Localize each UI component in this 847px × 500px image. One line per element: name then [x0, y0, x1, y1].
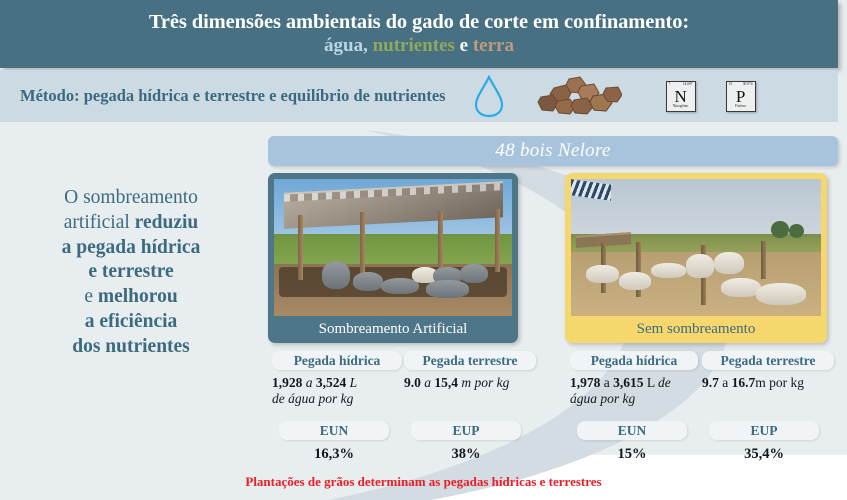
value-unit: m por kg	[755, 375, 804, 390]
element-number-n: 7	[669, 83, 671, 87]
value-shaded-eun: 16,3%	[279, 446, 389, 463]
caption-shaded: Sombreamento Artificial	[274, 316, 512, 343]
stat-unshaded-eun: EUN 15%	[577, 421, 687, 463]
footer-note: Plantações de grãos determinam as pegada…	[0, 474, 847, 490]
value-shaded-eup: 38%	[411, 446, 521, 463]
subject-banner: 48 bois Nelore	[268, 136, 838, 166]
value-unit: L	[644, 375, 659, 390]
treatment-card-shaded: Sombreamento Artificial	[268, 173, 518, 343]
photo-open-lot	[571, 179, 821, 316]
element-symbol-n: N	[674, 88, 686, 105]
caption-unshaded: Sem sombreamento	[571, 316, 821, 343]
stat-unshaded-land: Pegada terrestre 9.7 a 16.7m por kg	[702, 351, 834, 391]
header-comma: ,	[363, 35, 368, 56]
method-label: Método: pegada hídrica e terrestre e equ…	[20, 86, 446, 106]
value-unit: de água por kg	[272, 391, 353, 406]
element-tile-phosphorus: 15 30.974 P Fósforo	[726, 81, 756, 112]
value-unit: água por kg	[570, 391, 635, 406]
message-text-bold: melhorou	[98, 286, 178, 307]
soil-clumps-icon	[536, 74, 622, 118]
photo-shaded-pen	[274, 179, 512, 316]
label-shaded-eun: EUN	[279, 421, 389, 440]
label-unshaded-eun: EUN	[577, 421, 687, 440]
stat-unshaded-eup: EUP 35,4%	[709, 421, 819, 463]
message-line-2: artificial reduziu	[6, 211, 256, 236]
method-icon-group: 7 14.007 N Nitrogênio 15 30.974 P Fósfor…	[470, 74, 756, 118]
value-number: 9.0	[404, 375, 421, 390]
stat-shaded-eun: EUN 16,3%	[279, 421, 389, 463]
stat-shaded-eup: EUP 38%	[411, 421, 521, 463]
element-name-n: Nitrogênio	[667, 105, 695, 109]
value-sep: a	[302, 375, 316, 390]
subject-banner-label: 48 bois Nelore	[495, 140, 610, 162]
value-unit: m por kg	[458, 375, 509, 390]
label-unshaded-water: Pegada hídrica	[570, 351, 698, 370]
value-number: 15,4	[434, 375, 458, 390]
label-unshaded-land: Pegada terrestre	[702, 351, 834, 370]
label-shaded-land: Pegada terrestre	[404, 351, 536, 370]
element-mass-p: 30.974	[743, 83, 753, 87]
header-banner: Três dimensões ambientais do gado de cor…	[0, 0, 838, 68]
header-word-and: e	[460, 35, 468, 56]
stat-shaded-land: Pegada terrestre 9.0 a 15,4 m por kg	[404, 351, 536, 391]
header-word-nutrients: nutrientes	[373, 35, 455, 56]
label-shaded-water: Pegada hídrica	[272, 351, 402, 370]
message-text: e	[84, 286, 98, 307]
message-line-1: O sombreamento	[6, 186, 256, 211]
element-mass-n: 14.007	[683, 83, 693, 87]
value-unshaded-eup: 35,4%	[709, 446, 819, 463]
message-line-3: a pegada hídrica	[6, 236, 256, 261]
value-sep: a	[719, 375, 732, 390]
message-line-6: a eficiência	[6, 310, 256, 335]
value-sep: a	[600, 375, 613, 390]
message-line-7: dos nutrientes	[6, 335, 256, 360]
label-unshaded-eup: EUP	[709, 421, 819, 440]
element-name-p: Fósforo	[727, 105, 755, 109]
key-message-panel: O sombreamento artificial reduziu a pega…	[6, 186, 256, 359]
message-text-bold: a pegada hídrica	[62, 237, 201, 258]
value-number: 3,615	[613, 375, 643, 390]
value-number: 1,928	[272, 375, 302, 390]
value-unshaded-eun: 15%	[577, 446, 687, 463]
stat-unshaded-water: Pegada hídrica 1,978 a 3,615 L de água p…	[570, 351, 698, 407]
value-number: 3,524	[316, 375, 346, 390]
value-number: 1,978	[570, 375, 600, 390]
water-drop-icon	[470, 74, 508, 118]
message-text-bold: reduziu	[135, 212, 199, 233]
value-shaded-land: 9.0 a 15,4 m por kg	[404, 375, 536, 391]
header-word-land: terra	[473, 35, 514, 56]
message-line-4: e terrestre	[6, 260, 256, 285]
label-shaded-eup: EUP	[411, 421, 521, 440]
treatment-card-unshaded: Sem sombreamento	[565, 173, 827, 343]
value-sep: a	[421, 375, 435, 390]
stat-shaded-water: Pegada hídrica 1,928 a 3,524 L de água p…	[272, 351, 402, 407]
header-title-line2: água, nutrientes e terra	[324, 35, 514, 57]
infographic-root: Três dimensões ambientais do gado de cor…	[0, 0, 847, 500]
value-unit: de	[658, 375, 671, 390]
value-shaded-water: 1,928 a 3,524 L de água por kg	[272, 375, 402, 407]
message-text-bold: a eficiência	[85, 311, 178, 332]
message-text-bold: e terrestre	[88, 261, 173, 282]
value-unshaded-water: 1,978 a 3,615 L de água por kg	[570, 375, 698, 407]
method-bar: Método: pegada hídrica e terrestre e equ…	[0, 70, 838, 122]
message-text: artificial	[64, 212, 135, 233]
header-word-water: água	[324, 35, 363, 56]
message-text: O sombreamento	[64, 187, 198, 208]
element-tile-nitrogen: 7 14.007 N Nitrogênio	[666, 81, 696, 112]
message-line-5: e melhorou	[6, 285, 256, 310]
value-unshaded-land: 9.7 a 16.7m por kg	[702, 375, 834, 391]
value-number: 9.7	[702, 375, 719, 390]
header-title-line1: Três dimensões ambientais do gado de cor…	[149, 11, 689, 34]
element-number-p: 15	[729, 83, 733, 87]
element-symbol-p: P	[736, 88, 745, 105]
value-unit: L	[346, 375, 357, 390]
value-number: 16.7	[732, 375, 756, 390]
message-text-bold: dos nutrientes	[72, 336, 190, 357]
